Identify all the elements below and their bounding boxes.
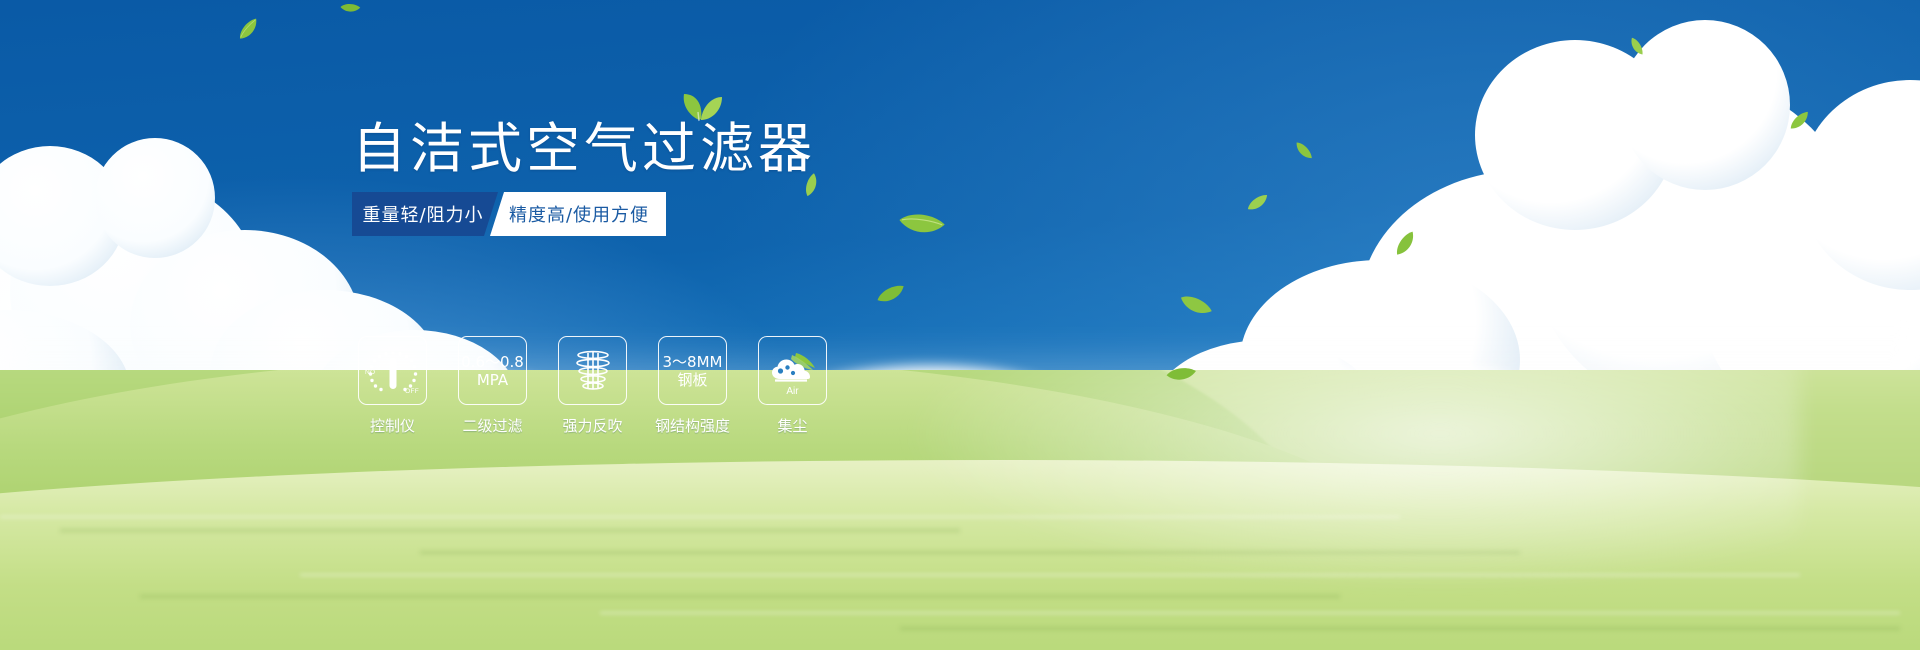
dust-cloud-air-icon: Air <box>758 336 827 405</box>
feature-item-control-gauge[interactable]: NO OFF 控制仪 <box>358 336 427 436</box>
feature-icon-row: NO OFF 控制仪 0.6～0.8 MPA 二级过滤 <box>358 336 827 436</box>
pressure-range-text: 0.6～0.8 <box>461 353 524 371</box>
steel-material-text: 钢板 <box>663 371 723 389</box>
feature-item-steel[interactable]: 3～8MM 钢板 钢结构强度 <box>658 336 727 436</box>
gauge-label-off: OFF <box>405 388 419 395</box>
gauge-dial-icon: NO OFF <box>358 336 427 405</box>
subtitle-pill-group: 重量轻/阻力小 精度高/使用方便 <box>352 192 666 236</box>
banner-content: 自洁式空气过滤器 重量轻/阻力小 精度高/使用方便 <box>0 0 1920 650</box>
pressure-value-icon: 0.6～0.8 MPA <box>458 336 527 405</box>
hero-banner: 自洁式空气过滤器 重量轻/阻力小 精度高/使用方便 <box>0 0 1920 650</box>
page-title: 自洁式空气过滤器 <box>352 118 816 180</box>
steel-plate-icon: 3～8MM 钢板 <box>658 336 727 405</box>
pressure-unit-text: MPA <box>461 371 524 389</box>
feature-caption: 控制仪 <box>370 415 415 436</box>
gauge-label-no: NO <box>365 369 375 376</box>
feature-caption: 强力反吹 <box>562 415 622 436</box>
subtitle-pill-secondary: 精度高/使用方便 <box>490 192 666 236</box>
air-label-text: Air <box>759 386 826 397</box>
feature-item-pressure[interactable]: 0.6～0.8 MPA 二级过滤 <box>458 336 527 436</box>
airflow-blowback-icon <box>558 336 627 405</box>
steel-thickness-text: 3～8MM <box>663 353 723 371</box>
feature-item-dust[interactable]: Air 集尘 <box>758 336 827 436</box>
feature-caption: 集尘 <box>777 415 807 436</box>
feature-caption: 二级过滤 <box>462 415 522 436</box>
feature-caption: 钢结构强度 <box>655 415 730 436</box>
subtitle-pill-primary: 重量轻/阻力小 <box>352 192 498 236</box>
feature-item-blowback[interactable]: 强力反吹 <box>558 336 627 436</box>
